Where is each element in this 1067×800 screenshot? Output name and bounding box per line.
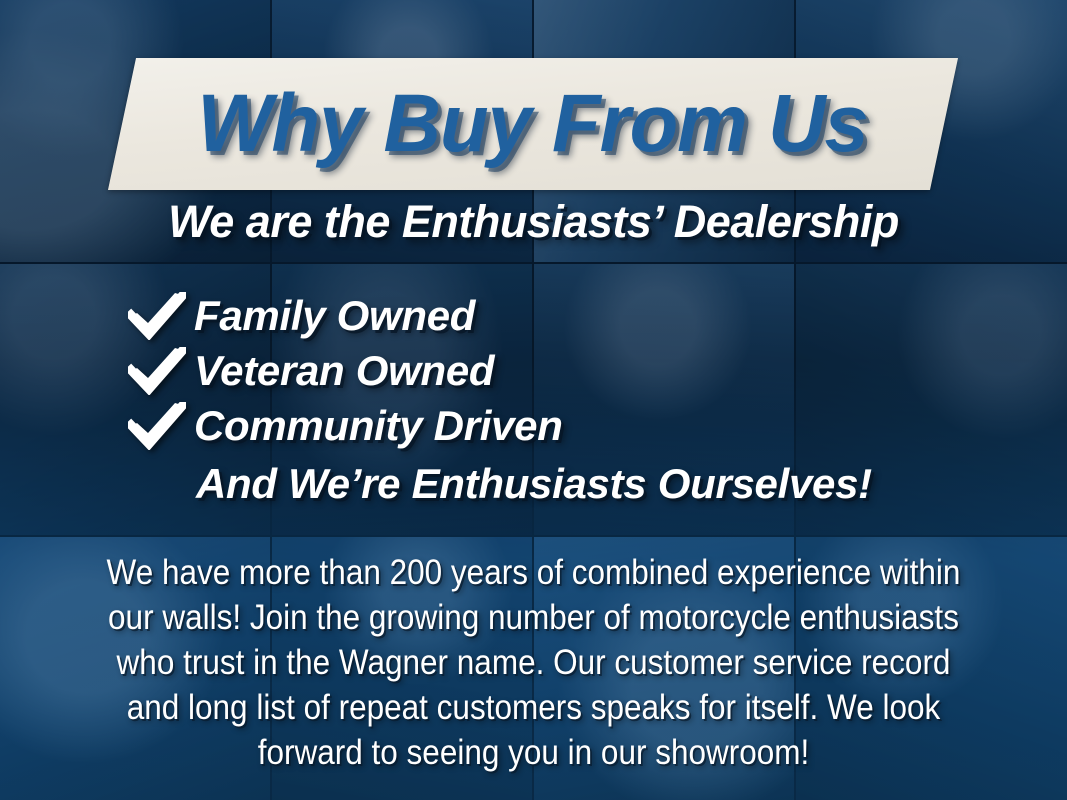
title-banner: Why Buy From Us xyxy=(108,58,958,190)
benefits-list: Family Owned Veteran Owned Community Dri… xyxy=(0,288,1067,453)
checkmark-icon xyxy=(128,292,186,340)
checkmark-icon xyxy=(128,347,186,395)
list-item: Veteran Owned xyxy=(0,343,1067,398)
title-banner-inner: Why Buy From Us xyxy=(122,58,944,190)
list-item: Community Driven xyxy=(0,398,1067,453)
list-item-label: Family Owned xyxy=(194,292,475,340)
list-item-label: Veteran Owned xyxy=(194,347,494,395)
list-item-label: Community Driven xyxy=(194,402,563,450)
subtitle: We are the Enthusiasts’ Dealership xyxy=(0,196,1067,248)
checkmark-icon xyxy=(128,402,186,450)
tagline: And We’re Enthusiasts Ourselves! xyxy=(0,460,1067,508)
list-item: Family Owned xyxy=(0,288,1067,343)
page-title: Why Buy From Us xyxy=(198,77,868,171)
why-buy-from-us-poster: Why Buy From Us We are the Enthusiasts’ … xyxy=(0,0,1067,800)
description-paragraph: We have more than 200 years of combined … xyxy=(97,550,971,775)
